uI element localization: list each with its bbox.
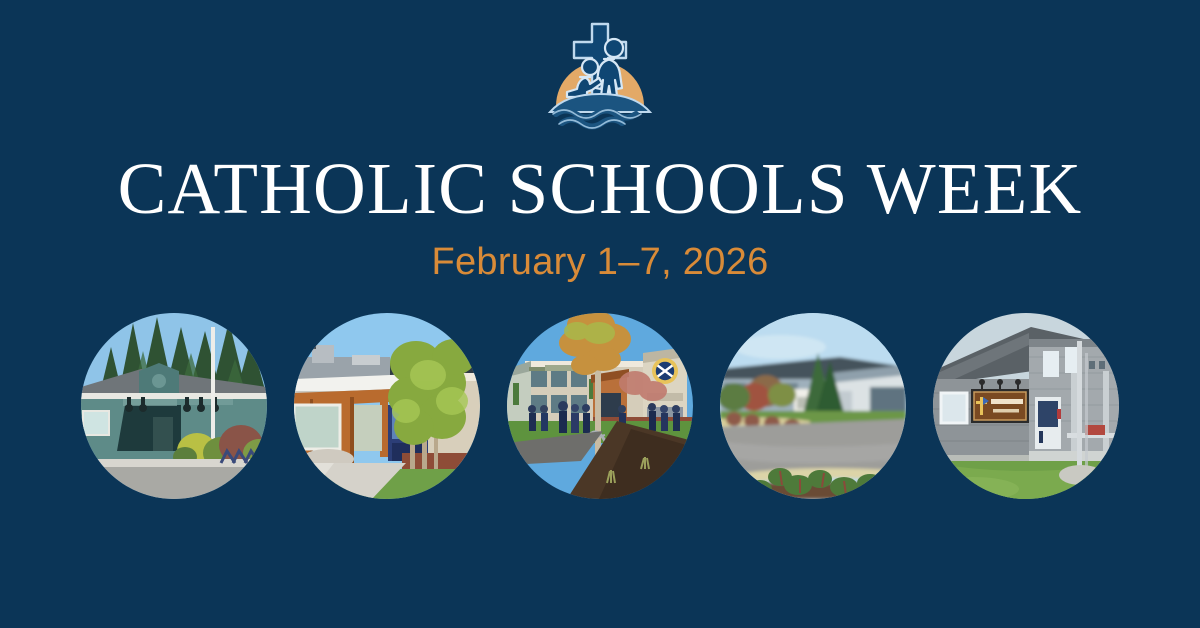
date-range: February 1–7, 2026 bbox=[0, 243, 1200, 281]
school-photo-1 bbox=[81, 313, 267, 499]
school-photo-4 bbox=[720, 313, 906, 499]
diocese-logo bbox=[542, 18, 658, 130]
page-title: CATHOLIC SCHOOLS WEEK bbox=[0, 152, 1200, 225]
school-crest-icon bbox=[652, 358, 678, 384]
school-photo-5 bbox=[933, 313, 1119, 499]
school-photo-row bbox=[0, 313, 1200, 499]
logo-container bbox=[0, 18, 1200, 130]
school-photo-2 bbox=[294, 313, 480, 499]
school-sign bbox=[971, 389, 1029, 423]
catholic-schools-week-banner: CATHOLIC SCHOOLS WEEK February 1–7, 2026 bbox=[0, 0, 1200, 628]
school-photo-3 bbox=[507, 313, 693, 499]
